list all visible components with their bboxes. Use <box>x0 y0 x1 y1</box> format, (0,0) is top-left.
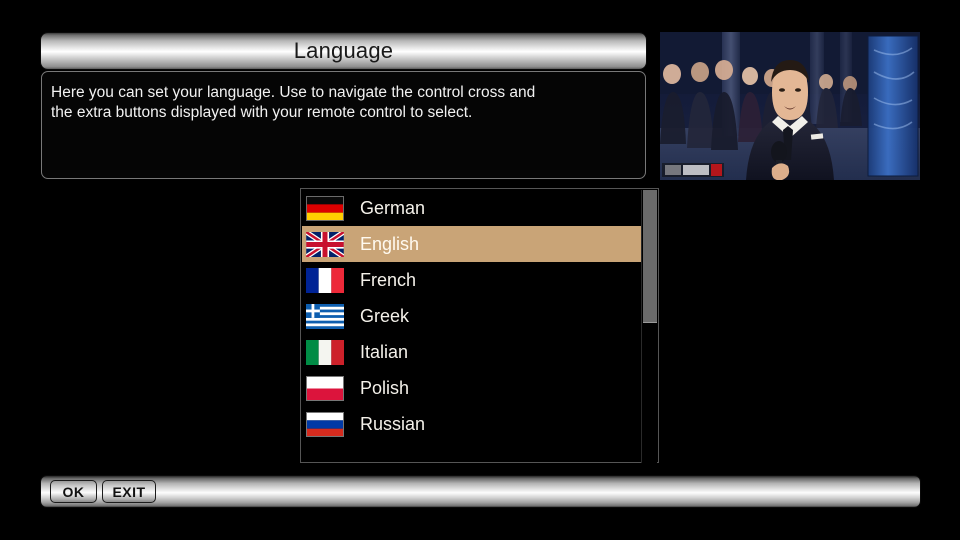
list-item-label: English <box>360 235 419 253</box>
list-item-label: Russian <box>360 415 425 433</box>
list-item-english[interactable]: English <box>302 226 643 262</box>
list-item-italian[interactable]: Italian <box>302 334 643 370</box>
vertical-scrollbar[interactable] <box>641 190 657 463</box>
language-list: German English French Greek <box>302 190 643 442</box>
flag-it-icon <box>306 340 344 365</box>
live-tv-preview[interactable] <box>660 32 920 180</box>
list-item-greek[interactable]: Greek <box>302 298 643 334</box>
list-item-polish[interactable]: Polish <box>302 370 643 406</box>
flag-pl-icon <box>306 376 344 401</box>
window-title-bar: Language <box>41 33 646 69</box>
language-list-panel[interactable]: German English French Greek <box>300 188 659 463</box>
flag-fr-icon <box>306 268 344 293</box>
list-item-label: French <box>360 271 416 289</box>
list-item-german[interactable]: German <box>302 190 643 226</box>
exit-button-label: EXIT <box>112 484 145 500</box>
list-item-label: Polish <box>360 379 409 397</box>
tv-settings-screen: Language Here you can set your language.… <box>0 0 960 540</box>
list-item-label: German <box>360 199 425 217</box>
flag-de-icon <box>306 196 344 221</box>
list-item-french[interactable]: French <box>302 262 643 298</box>
list-item-russian[interactable]: Russian <box>302 406 643 442</box>
flag-gb-icon <box>306 232 344 257</box>
flag-ru-icon <box>306 412 344 437</box>
exit-button[interactable]: EXIT <box>102 480 156 503</box>
list-item-label: Greek <box>360 307 409 325</box>
help-text: Here you can set your language. Use to n… <box>51 83 637 123</box>
bottom-action-bar: OK EXIT <box>41 476 920 507</box>
flag-gr-icon <box>306 304 344 329</box>
list-item-label: Italian <box>360 343 408 361</box>
scrollbar-thumb[interactable] <box>643 190 657 323</box>
help-description-box: Here you can set your language. Use to n… <box>41 71 646 179</box>
ok-button[interactable]: OK <box>50 480 97 503</box>
preview-image <box>660 32 920 180</box>
ok-button-label: OK <box>63 484 85 500</box>
page-title: Language <box>41 38 646 64</box>
